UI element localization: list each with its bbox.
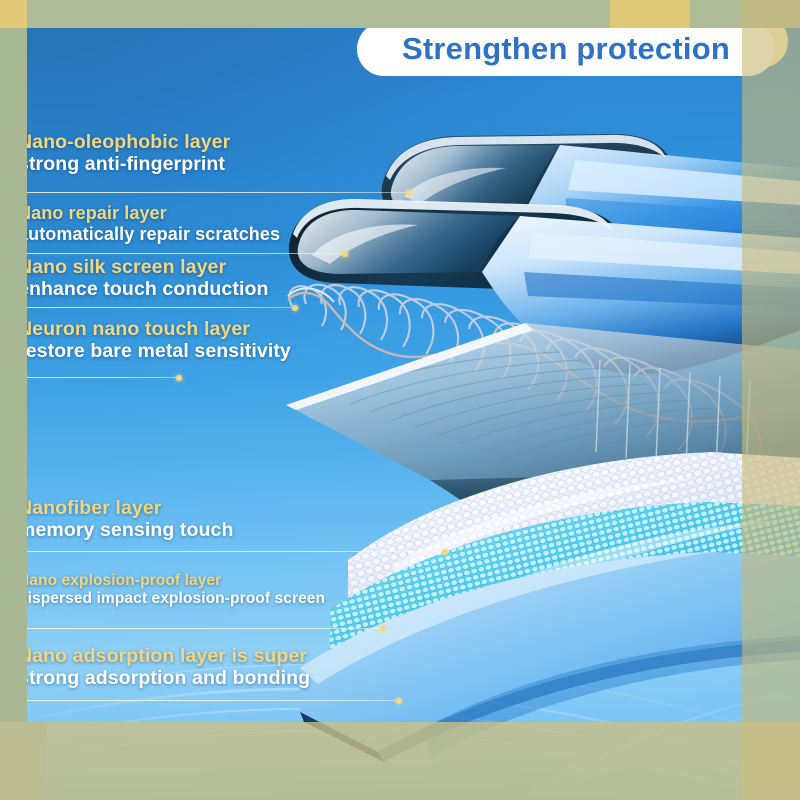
label-heading: Nano silk screen layer: [18, 256, 269, 278]
label-heading: Nano repair layer: [18, 203, 280, 224]
label-heading: Nano adsorption layer is super: [18, 645, 310, 667]
label-body: strong anti-fingerprint: [18, 153, 230, 175]
layer-label-column: Nano-oleophobic layer strong anti-finger…: [0, 0, 420, 800]
label-neuron-nano-touch: Neuron nano touch layer restore bare met…: [18, 318, 291, 362]
label-nano-silk-screen: Nano silk screen layer enhance touch con…: [18, 256, 269, 300]
label-body: restore bare metal sensitivity: [18, 340, 291, 362]
product-infographic-poster: Nano-oleophobic layer strong anti-finger…: [0, 0, 800, 800]
label-body: strong adsorption and bonding: [18, 667, 310, 689]
label-body: enhance touch conduction: [18, 278, 269, 300]
label-nano-oleophobic: Nano-oleophobic layer strong anti-finger…: [18, 131, 230, 175]
label-nano-explosion-proof: Nano explosion-proof layer dispersed imp…: [18, 572, 325, 607]
title-pill: Strengthen protection: [357, 22, 775, 76]
label-body: memory sensing touch: [18, 519, 233, 541]
page-title: Strengthen protection: [402, 31, 730, 67]
label-nanofiber: Nanofiber layer memory sensing touch: [18, 497, 233, 541]
label-nano-repair: Nano repair layer automatically repair s…: [18, 203, 280, 244]
label-heading: Nano-oleophobic layer: [18, 131, 230, 153]
label-body: dispersed impact explosion-proof screen: [18, 590, 325, 608]
label-heading: Nano explosion-proof layer: [18, 572, 325, 590]
label-nano-adsorption: Nano adsorption layer is super strong ad…: [18, 645, 310, 689]
label-body: automatically repair scratches: [18, 224, 280, 245]
label-heading: Nanofiber layer: [18, 497, 233, 519]
label-heading: Neuron nano touch layer: [18, 318, 291, 340]
